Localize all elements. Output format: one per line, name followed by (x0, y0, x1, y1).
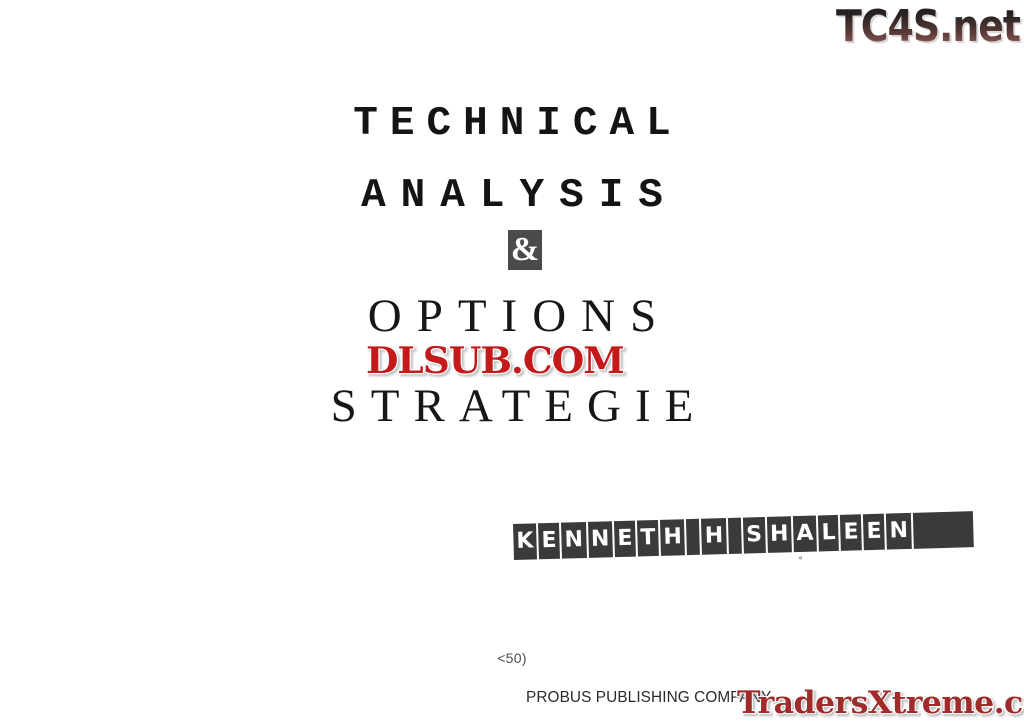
author-letter-tile: N (561, 522, 586, 559)
author-band-smudge: ˚ (798, 556, 810, 569)
publisher-name: PROBUS PUBLISHING COMPANY (526, 688, 771, 708)
author-letter-tile: K (513, 523, 537, 560)
dlsub-watermark: DLSUB.COM (366, 340, 624, 382)
title-line-technical: TECHNICAL (0, 96, 1024, 152)
author-letter-tile: T (637, 520, 659, 557)
ampersand-wrapper: & (0, 230, 1024, 274)
author-letter-tile: S (743, 517, 766, 554)
author-letter-tile: E (538, 523, 560, 560)
author-band-blank-tile (913, 511, 974, 549)
author-letter-tile: N (587, 521, 612, 558)
author-letter-tile: H (701, 518, 726, 555)
author-letter-tile (686, 519, 700, 555)
author-letter-tile: E (840, 514, 862, 551)
title-line-strategies: STRATEGIE (0, 378, 1024, 434)
book-cover-page: TC4S.net TC4S.net TECHNICAL ANALYSIS & O… (0, 0, 1024, 724)
title-line-analysis: ANALYSIS (0, 168, 1024, 224)
tc4s-watermark: TC4S.net (836, 2, 1020, 52)
author-letter-tile: E (614, 521, 636, 558)
author-letter-tile: N (886, 513, 911, 550)
author-letter-tile: H (767, 516, 792, 553)
scan-artifact-text: <50) (0, 650, 1024, 666)
author-letter-tile: E (863, 514, 885, 551)
author-letter-tile: L (818, 515, 839, 552)
title-line-options: OPTIONS (0, 288, 1024, 344)
author-letter-tile: A (793, 516, 817, 553)
tradersxtreme-watermark: TradersXtreme.com (737, 684, 1024, 722)
ampersand-block: & (508, 230, 542, 270)
author-letter-tile (728, 518, 742, 554)
author-letter-tile: H (660, 519, 685, 556)
cover-title-block: TECHNICAL ANALYSIS & OPTIONS STRATEGIE (0, 96, 1024, 434)
